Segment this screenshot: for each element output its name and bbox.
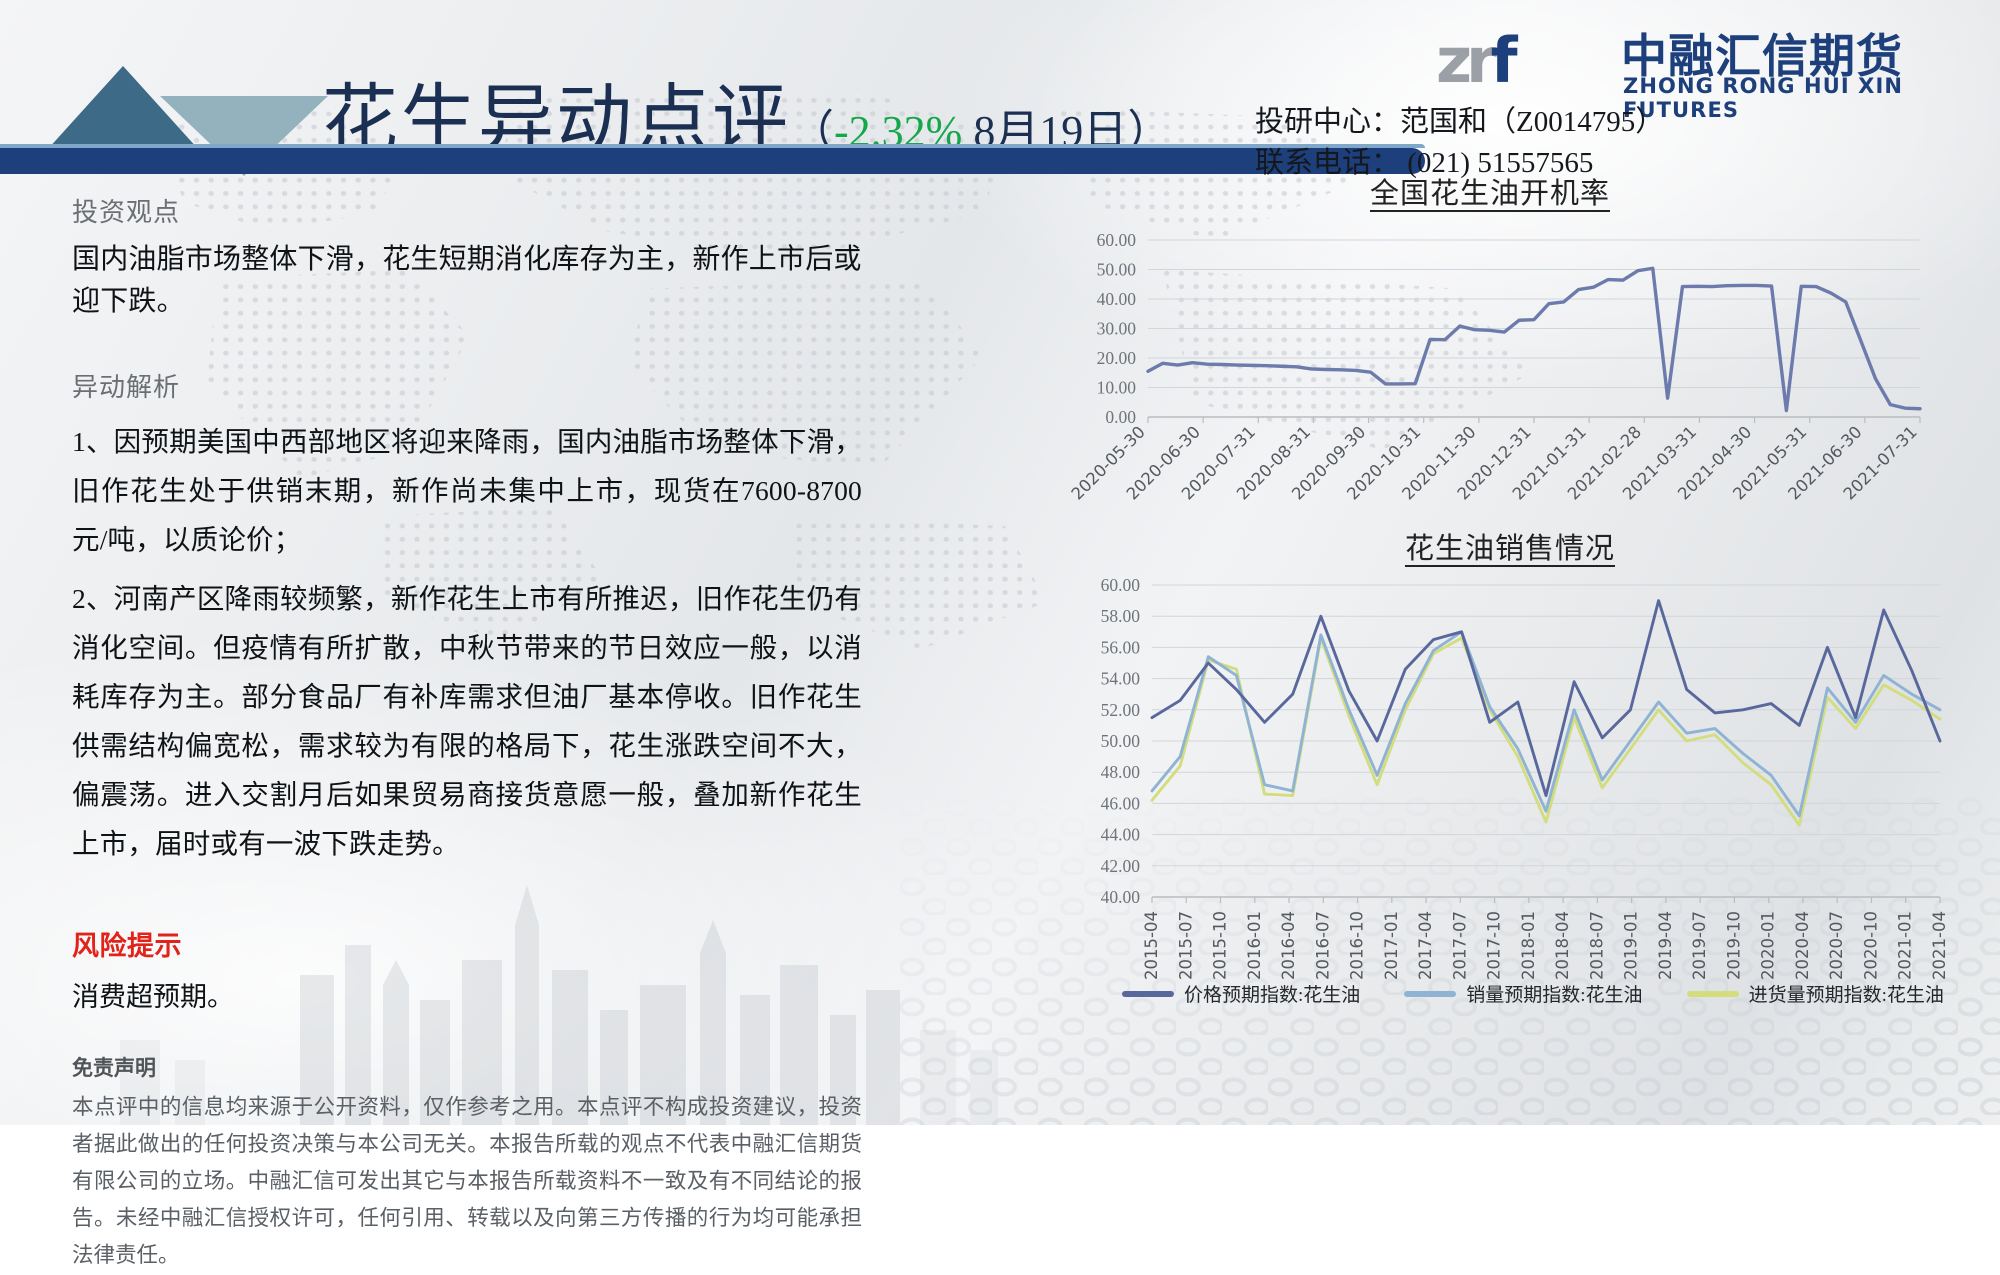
legend-label: 销量预期指数:花生油 [1466, 980, 1642, 1007]
svg-text:20.00: 20.00 [1097, 348, 1137, 368]
svg-text:2020-07: 2020-07 [1827, 911, 1846, 980]
svg-text:48.00: 48.00 [1101, 762, 1141, 782]
svg-text:54.00: 54.00 [1101, 669, 1141, 689]
svg-text:2018-01: 2018-01 [1519, 911, 1538, 980]
section-label-investment-view: 投资观点 [72, 192, 862, 229]
disclaimer-text: 本点评中的信息均来源于公开资料，仅作参考之用。本点评不构成投资建议，投资者据此做… [72, 1090, 862, 1275]
svg-text:2017-10: 2017-10 [1485, 911, 1504, 980]
svg-text:2020-10: 2020-10 [1861, 911, 1880, 980]
legend-swatch-icon [1687, 991, 1739, 997]
svg-text:52.00: 52.00 [1101, 700, 1141, 720]
svg-text:2017-04: 2017-04 [1416, 911, 1435, 980]
svg-text:2018-04: 2018-04 [1553, 911, 1572, 980]
svg-text:2016-04: 2016-04 [1279, 911, 1298, 980]
chart-peanut-oil-operating-rate: 全国花生油开机率 0.0010.0020.0030.0040.0050.0060… [1040, 170, 1940, 530]
svg-text:56.00: 56.00 [1101, 637, 1141, 657]
legend-swatch-icon [1122, 991, 1174, 997]
svg-text:10.00: 10.00 [1097, 378, 1137, 398]
risk-warning-text: 消费超预期。 [72, 975, 862, 1014]
company-logo: zrf 中融汇信期货 ZHONG RONG HUI XIN FUTURES [1436, 18, 1970, 106]
disclaimer-title: 免责声明 [72, 1052, 862, 1082]
svg-text:2019-07: 2019-07 [1690, 911, 1709, 980]
svg-text:2015-07: 2015-07 [1176, 911, 1195, 980]
svg-text:2016-10: 2016-10 [1348, 911, 1367, 980]
svg-text:40.00: 40.00 [1101, 887, 1141, 907]
svg-text:30.00: 30.00 [1097, 319, 1137, 339]
svg-text:2016-07: 2016-07 [1313, 911, 1332, 980]
chart-peanut-oil-sales: 花生油销售情况 40.0042.0044.0046.0048.0050.0052… [1060, 525, 1960, 1085]
svg-text:58.00: 58.00 [1101, 606, 1141, 626]
logo-zrf-mark: zrf [1436, 24, 1512, 97]
chart2-legend: 价格预期指数:花生油销量预期指数:花生油进货量预期指数:花生油 [1122, 980, 1944, 1007]
chart2-title: 花生油销售情况 [1060, 525, 1960, 567]
logo-letter-f: f [1491, 24, 1512, 97]
svg-text:2018-07: 2018-07 [1587, 911, 1606, 980]
svg-text:40.00: 40.00 [1097, 289, 1137, 309]
chart1-title: 全国花生油开机率 [1040, 170, 1940, 212]
analysis-paragraph-1: 1、因预期美国中西部地区将迎来降雨，国内油脂市场整体下滑，旧作花生处于供销末期，… [72, 418, 862, 565]
legend-item-3[interactable]: 进货量预期指数:花生油 [1687, 980, 1944, 1007]
svg-text:2020-01: 2020-01 [1759, 911, 1778, 980]
logo-letter-r: r [1466, 24, 1491, 97]
svg-text:60.00: 60.00 [1101, 575, 1141, 595]
svg-text:0.00: 0.00 [1105, 407, 1136, 427]
svg-text:2021-01: 2021-01 [1896, 911, 1915, 980]
report-page: 花生异动点评（-2.32% 8月19日） zrf 中融汇信期货 ZHONG RO… [0, 0, 2000, 1125]
svg-text:2020-04: 2020-04 [1793, 911, 1812, 980]
page-header: 花生异动点评（-2.32% 8月19日） zrf 中融汇信期货 ZHONG RO… [0, 0, 2000, 170]
legend-label: 价格预期指数:花生油 [1184, 980, 1360, 1007]
logo-letter-z: z [1436, 24, 1466, 97]
legend-item-2[interactable]: 销量预期指数:花生油 [1404, 980, 1642, 1007]
svg-text:2015-04: 2015-04 [1142, 911, 1161, 980]
analysis-paragraph-2: 2、河南产区降雨较频繁，新作花生上市有所推迟，旧作花生仍有消化空间。但疫情有所扩… [72, 575, 862, 869]
legend-label: 进货量预期指数:花生油 [1749, 980, 1944, 1007]
svg-text:2017-01: 2017-01 [1382, 911, 1401, 980]
investment-view-text: 国内油脂市场整体下滑，花生短期消化库存为主，新作上市后或迎下跌。 [72, 239, 862, 323]
section-label-analysis: 异动解析 [72, 367, 862, 404]
legend-item-1[interactable]: 价格预期指数:花生油 [1122, 980, 1360, 1007]
article-column: 投资观点 国内油脂市场整体下滑，花生短期消化库存为主，新作上市后或迎下跌。 异动… [72, 192, 862, 1275]
risk-warning-title: 风险提示 [72, 924, 862, 963]
svg-text:2019-04: 2019-04 [1656, 911, 1675, 980]
chart1-canvas: 0.0010.0020.0030.0040.0050.0060.002020-0… [1040, 212, 1940, 542]
contact-analyst: 投研中心：范国和（Z0014795） [1255, 102, 1975, 143]
svg-text:60.00: 60.00 [1097, 230, 1137, 250]
svg-text:2015-10: 2015-10 [1211, 911, 1230, 980]
svg-text:46.00: 46.00 [1101, 793, 1141, 813]
svg-text:2019-10: 2019-10 [1724, 911, 1743, 980]
svg-text:44.00: 44.00 [1101, 825, 1141, 845]
svg-text:2016-01: 2016-01 [1245, 911, 1264, 980]
chart2-canvas: 40.0042.0044.0046.0048.0050.0052.0054.00… [1060, 567, 1960, 987]
legend-swatch-icon [1404, 991, 1456, 997]
svg-text:2021-04: 2021-04 [1930, 911, 1949, 980]
svg-text:2017-07: 2017-07 [1450, 911, 1469, 980]
svg-text:50.00: 50.00 [1101, 731, 1141, 751]
svg-text:50.00: 50.00 [1097, 260, 1137, 280]
svg-text:2019-01: 2019-01 [1622, 911, 1641, 980]
svg-text:42.00: 42.00 [1101, 856, 1141, 876]
